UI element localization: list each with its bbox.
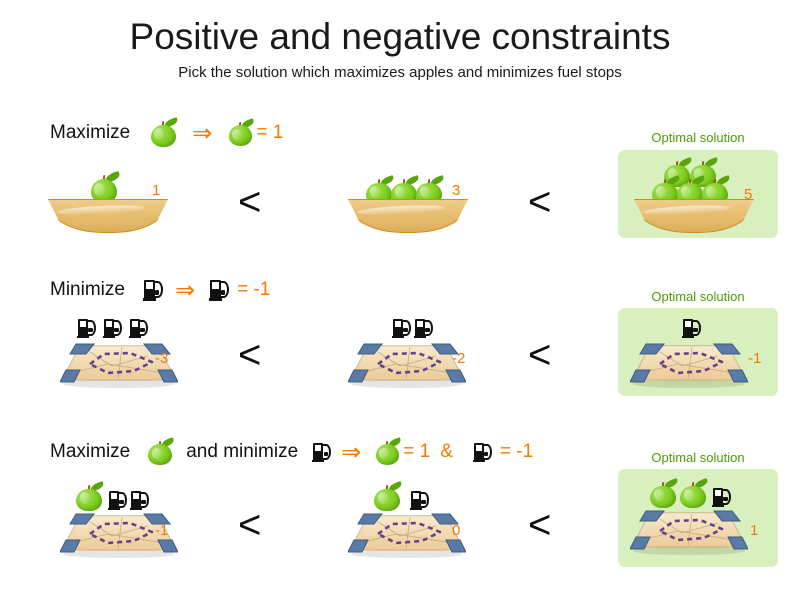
less-than-icon: < — [238, 182, 261, 222]
fuel-pump-icon — [209, 280, 229, 301]
optimal-solution-label: Optimal solution — [618, 450, 778, 465]
apple-icon — [74, 482, 104, 512]
legend-ampersand: & — [440, 441, 453, 463]
apple-icon — [148, 118, 178, 148]
legend-minimize-fuel: Minimize ⇒ = -1 — [50, 278, 270, 302]
fuel-pump-icon — [108, 490, 127, 510]
bowl-icon — [48, 199, 166, 231]
legend-maximize-apples: Maximize ⇒ = 1 — [50, 118, 283, 148]
fuel-pump-icon — [414, 318, 433, 338]
page-title: Positive and negative constraints — [0, 16, 800, 58]
less-than-icon: < — [528, 182, 551, 222]
map-route-icon — [630, 507, 748, 555]
slide-canvas: Positive and negative constraints Pick t… — [0, 0, 800, 600]
fuel-pump-icon — [392, 318, 411, 338]
apple-icon — [146, 438, 174, 466]
double-arrow-right-icon: ⇒ — [192, 121, 212, 145]
legend-equals: = 1 — [403, 441, 430, 463]
map-route-icon — [348, 510, 466, 558]
score-value: 0 — [452, 522, 460, 539]
fuel-pump-icon — [712, 487, 731, 507]
fuel-pump-icon — [77, 318, 96, 338]
fuel-pump-icon — [410, 490, 429, 510]
less-than-icon: < — [238, 335, 261, 375]
legend-second-equals: = -1 — [500, 441, 533, 463]
fuel-pump-icon — [682, 318, 701, 338]
bowl-icon — [348, 199, 466, 231]
apple-icon — [372, 482, 402, 512]
solution-1-apple-2-fuel-stops[interactable] — [60, 482, 190, 552]
optimal-solution-label: Optimal solution — [618, 289, 778, 304]
bowl-icon — [634, 199, 752, 231]
solution-3-fuel-stops[interactable] — [60, 318, 190, 388]
score-value: 1 — [750, 522, 758, 539]
solution-2-apples-1-fuel-stop-optimal[interactable] — [630, 479, 760, 555]
apple-icon — [226, 119, 254, 147]
score-value: 5 — [744, 186, 752, 203]
score-value: -1 — [748, 350, 761, 367]
double-arrow-right-icon: ⇒ — [175, 278, 195, 302]
less-than-icon: < — [528, 335, 551, 375]
apple-icon — [678, 479, 708, 509]
score-value: 3 — [452, 182, 460, 199]
fuel-pump-icon — [473, 442, 492, 462]
solution-1-apple-1-fuel-stop[interactable] — [348, 482, 478, 552]
legend-maximize-apples-minimize-fuel: Maximize and minimize ⇒ = 1 & = -1 — [50, 438, 533, 466]
score-value: -1 — [155, 522, 168, 539]
optimal-solution-label: Optimal solution — [618, 130, 778, 145]
apple-icon — [373, 438, 401, 466]
fuel-pump-icon — [312, 442, 331, 462]
solution-1-fuel-stop-optimal[interactable] — [630, 318, 760, 388]
legend-verb: Maximize — [50, 122, 130, 144]
map-route-icon — [348, 340, 466, 388]
fuel-pump-icon — [143, 280, 163, 301]
page-subtitle: Pick the solution which maximizes apples… — [0, 64, 800, 81]
fuel-pump-icon — [103, 318, 122, 338]
map-route-icon — [630, 340, 748, 388]
legend-verb: Minimize — [50, 279, 125, 301]
legend-verb: Maximize — [50, 441, 130, 463]
score-value: -2 — [452, 350, 465, 367]
legend-equals: = -1 — [237, 279, 270, 301]
less-than-icon: < — [238, 505, 261, 545]
double-arrow-right-icon: ⇒ — [341, 440, 361, 464]
score-value: 1 — [152, 182, 160, 199]
score-value: -3 — [155, 350, 168, 367]
fuel-pump-icon — [130, 490, 149, 510]
legend-equals: = 1 — [256, 122, 283, 144]
legend-conjunction: and minimize — [186, 441, 298, 463]
fuel-pump-icon — [129, 318, 148, 338]
apple-icon — [648, 479, 678, 509]
less-than-icon: < — [528, 505, 551, 545]
